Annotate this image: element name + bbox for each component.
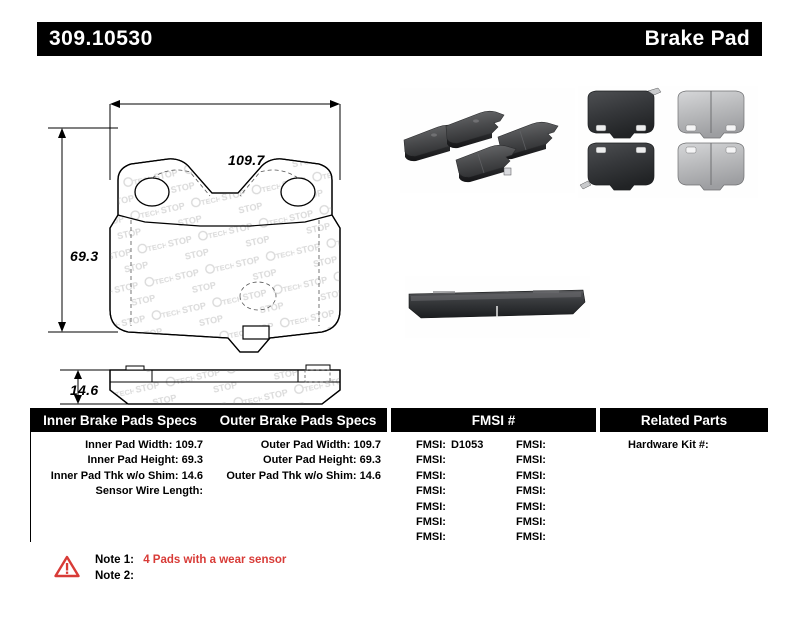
- fmsi-value: [446, 470, 451, 482]
- fmsi-label: FMSI:: [516, 454, 546, 466]
- fmsi-label: FMSI:: [416, 454, 446, 466]
- fmsi-value: [446, 516, 451, 528]
- specs-table: Inner Brake Pads Specs Outer Brake Pads …: [30, 408, 768, 548]
- table-header-related-parts: Related Parts: [600, 408, 768, 432]
- warning-triangle-icon: [54, 555, 80, 578]
- fmsi-column-b: FMSI: FMSI: FMSI: FMSI: FMSI: FMSI: FMSI…: [516, 438, 616, 546]
- pad-face-outline: [105, 155, 350, 355]
- note-1-text: 4 Pads with a wear sensor: [137, 554, 286, 566]
- header-inner-specs: Inner Brake Pads Specs: [31, 413, 209, 428]
- product-type: Brake Pad: [645, 27, 750, 51]
- thickness-arrow-top: [74, 370, 82, 379]
- fmsi-label: FMSI:: [516, 470, 546, 482]
- fmsi-row: FMSI:: [516, 515, 616, 530]
- fmsi-row: FMSI:: [416, 515, 516, 530]
- width-arrow-left: [110, 100, 120, 108]
- pad-side-outline: [105, 365, 350, 405]
- note-2-text: [134, 570, 140, 582]
- fmsi-label: FMSI:: [416, 501, 446, 513]
- fmsi-value: [446, 454, 451, 466]
- part-number: 309.10530: [49, 27, 153, 51]
- fmsi-label: FMSI:: [516, 439, 546, 451]
- fmsi-row: FMSI:: [416, 469, 516, 484]
- fmsi-value: D1053: [446, 439, 483, 451]
- fmsi-value: [446, 531, 451, 543]
- fmsi-row: FMSI:: [516, 469, 616, 484]
- inner-specs-column: Inner Pad Width: 109.7 Inner Pad Height:…: [31, 438, 209, 500]
- pad-grid-bottom-left: [580, 143, 654, 190]
- fmsi-value: [446, 485, 451, 497]
- height-arrow-top: [58, 128, 66, 138]
- fmsi-value: [546, 485, 551, 497]
- outer-spec-row: Outer Pad Width: 109.7: [209, 438, 381, 453]
- outer-specs-column: Outer Pad Width: 109.7 Outer Pad Height:…: [209, 438, 387, 484]
- note-2-line: Note 2:: [95, 570, 140, 582]
- pad-grid-bottom-right: [678, 143, 744, 190]
- note-1-label: Note 1:: [95, 554, 134, 566]
- dimension-height-label: 69.3: [70, 248, 98, 264]
- fmsi-value: [546, 454, 551, 466]
- related-parts-column: Hardware Kit #:: [600, 438, 768, 453]
- outer-spec-row: Outer Pad Height: 69.3: [209, 453, 381, 468]
- inner-spec-row: Inner Pad Width: 109.7: [31, 438, 203, 453]
- drawing-svg: STOP TECH STOP: [0, 60, 400, 405]
- fmsi-value: [446, 501, 451, 513]
- pad-grid-top-right: [678, 91, 744, 138]
- fmsi-label: FMSI:: [416, 531, 446, 543]
- height-dimension: [48, 128, 118, 332]
- height-arrow-bottom: [58, 322, 66, 332]
- hardware-kit-row: Hardware Kit #:: [628, 438, 768, 453]
- fmsi-column-a: FMSI:D1053 FMSI: FMSI: FMSI: FMSI: FMSI:…: [416, 438, 516, 546]
- fmsi-label: FMSI:: [516, 485, 546, 497]
- fmsi-row: FMSI:: [416, 530, 516, 545]
- header-outer-specs: Outer Brake Pads Specs: [209, 413, 387, 428]
- table-header-fmsi: FMSI #: [391, 408, 596, 432]
- photo-pad-side: [405, 276, 590, 338]
- fmsi-row: FMSI:: [516, 453, 616, 468]
- fmsi-row: FMSI:D1053: [416, 438, 516, 453]
- dimension-thickness-label: 14.6: [70, 382, 98, 398]
- fmsi-value: [546, 470, 551, 482]
- fmsi-label: FMSI:: [516, 501, 546, 513]
- fmsi-label: FMSI:: [416, 470, 446, 482]
- fmsi-value: [546, 516, 551, 528]
- fmsi-label: FMSI:: [516, 531, 546, 543]
- dimension-width-label: 109.7: [228, 152, 265, 168]
- photo-pads-angled: [400, 88, 575, 193]
- header-bar: 309.10530 Brake Pad: [37, 22, 762, 56]
- fmsi-row: FMSI:: [516, 484, 616, 499]
- fmsi-row: FMSI:: [416, 453, 516, 468]
- fmsi-label: FMSI:: [516, 516, 546, 528]
- photo-pads-grid: [578, 86, 758, 198]
- wear-sensor-tab: [243, 326, 269, 339]
- fmsi-value: [546, 531, 551, 543]
- fmsi-value: [546, 501, 551, 513]
- pad-grid-top-left: [588, 88, 661, 138]
- fmsi-label: FMSI:: [416, 516, 446, 528]
- notes-section: Note 1: 4 Pads with a wear sensor Note 2…: [50, 552, 470, 594]
- technical-drawing: STOP TECH STOP: [0, 60, 400, 405]
- note-2-label: Note 2:: [95, 570, 134, 582]
- inner-spec-row: Inner Pad Height: 69.3: [31, 453, 203, 468]
- inner-spec-row: Inner Pad Thk w/o Shim: 14.6: [31, 469, 203, 484]
- spec-sheet-page: 309.10530 Brake Pad STOP TECH STOP: [0, 0, 800, 619]
- fmsi-row: FMSI:: [416, 500, 516, 515]
- table-header-pads: Inner Brake Pads Specs Outer Brake Pads …: [31, 408, 387, 432]
- fmsi-label: FMSI:: [416, 485, 446, 497]
- note-1-line: Note 1: 4 Pads with a wear sensor: [95, 554, 286, 566]
- fmsi-label: FMSI:: [416, 439, 446, 451]
- width-arrow-right: [330, 100, 340, 108]
- fmsi-row: FMSI:: [516, 530, 616, 545]
- fmsi-row: FMSI:: [416, 484, 516, 499]
- fmsi-value: [546, 439, 551, 451]
- outer-spec-row: Outer Pad Thk w/o Shim: 14.6: [209, 469, 381, 484]
- fmsi-row: FMSI:: [516, 500, 616, 515]
- inner-spec-row: Sensor Wire Length:: [31, 484, 203, 499]
